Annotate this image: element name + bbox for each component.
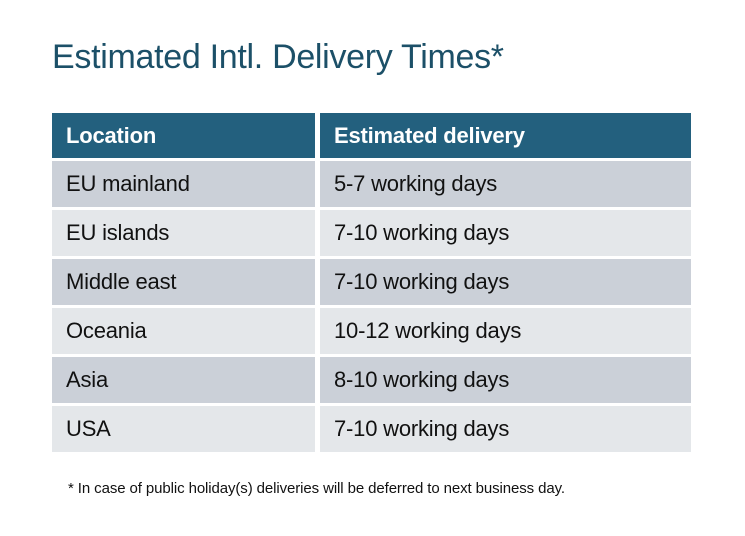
cell-location: Oceania: [52, 308, 315, 354]
cell-delivery: 7-10 working days: [320, 406, 691, 452]
cell-delivery: 5-7 working days: [320, 161, 691, 207]
cell-location: EU mainland: [52, 161, 315, 207]
table-row: EU mainland 5-7 working days: [52, 161, 691, 207]
page-title: Estimated Intl. Delivery Times*: [52, 36, 504, 78]
cell-delivery: 7-10 working days: [320, 210, 691, 256]
cell-location: EU islands: [52, 210, 315, 256]
cell-location: Middle east: [52, 259, 315, 305]
estimated-delivery-times-table: Location Estimated delivery EU mainland …: [52, 113, 691, 452]
column-header-location: Location: [52, 113, 315, 158]
table-row: Oceania 10-12 working days: [52, 308, 691, 354]
footnote-text: * In case of public holiday(s) deliverie…: [68, 479, 565, 499]
cell-delivery: 8-10 working days: [320, 357, 691, 403]
cell-delivery: 10-12 working days: [320, 308, 691, 354]
cell-delivery: 7-10 working days: [320, 259, 691, 305]
cell-location: USA: [52, 406, 315, 452]
delivery-times-page: Estimated Intl. Delivery Times* Location…: [0, 0, 745, 536]
table-header-row: Location Estimated delivery: [52, 113, 691, 158]
table-row: Asia 8-10 working days: [52, 357, 691, 403]
cell-location: Asia: [52, 357, 315, 403]
table-row: USA 7-10 working days: [52, 406, 691, 452]
column-header-estimated-delivery: Estimated delivery: [320, 113, 691, 158]
table-row: EU islands 7-10 working days: [52, 210, 691, 256]
table-row: Middle east 7-10 working days: [52, 259, 691, 305]
